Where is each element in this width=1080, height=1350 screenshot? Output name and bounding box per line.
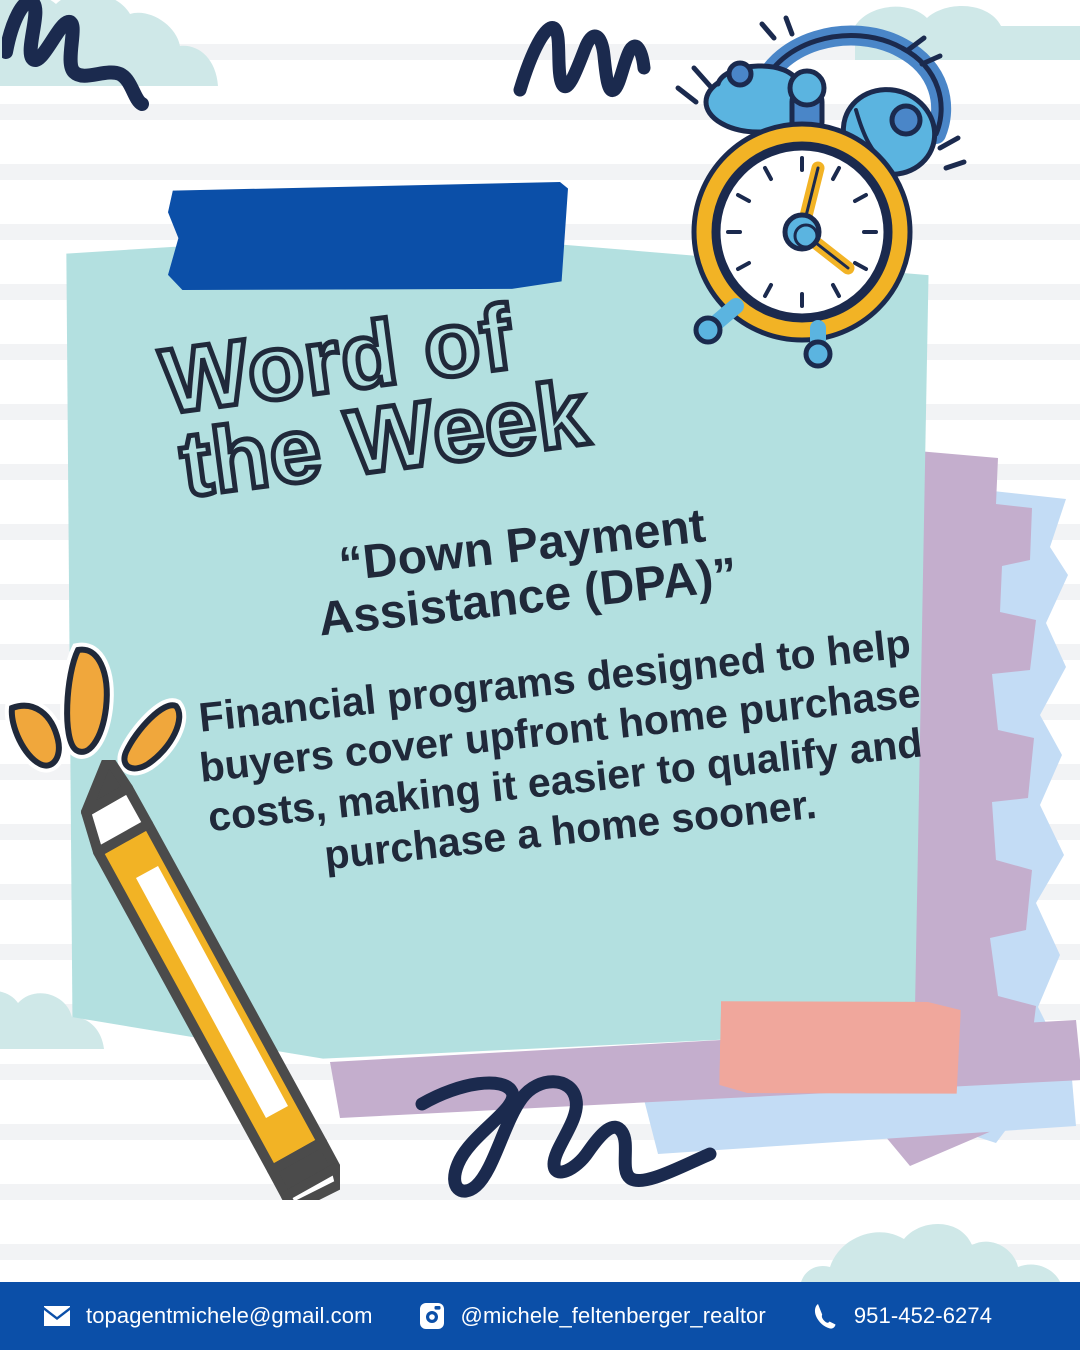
tape-blue [168, 182, 568, 290]
envelope-icon [44, 1303, 70, 1329]
phone-icon [812, 1303, 838, 1329]
poster-canvas: Word of the Week “Down Payment Assistanc… [0, 0, 1080, 1350]
footer-instagram[interactable]: @michele_feltenberger_realtor [419, 1303, 766, 1329]
squiggle-zigzag-top-left [2, 0, 182, 116]
squiggle-zigzag-top [512, 14, 692, 124]
footer-instagram-text: @michele_feltenberger_realtor [461, 1303, 766, 1329]
footer-phone[interactable]: 951-452-6274 [812, 1303, 992, 1329]
contact-footer: topagentmichele@gmail.com @michele_felte… [0, 1282, 1080, 1350]
cloud-bottom-right [800, 1215, 1080, 1287]
footer-phone-text: 951-452-6274 [854, 1303, 992, 1329]
tape-pink [719, 997, 961, 1097]
footer-email-text: topagentmichele@gmail.com [86, 1303, 373, 1329]
instagram-camera-icon [419, 1303, 445, 1329]
pencil-icon [40, 760, 340, 1200]
footer-email[interactable]: topagentmichele@gmail.com [44, 1303, 373, 1329]
squiggle-cursive-bottom [408, 1062, 728, 1232]
